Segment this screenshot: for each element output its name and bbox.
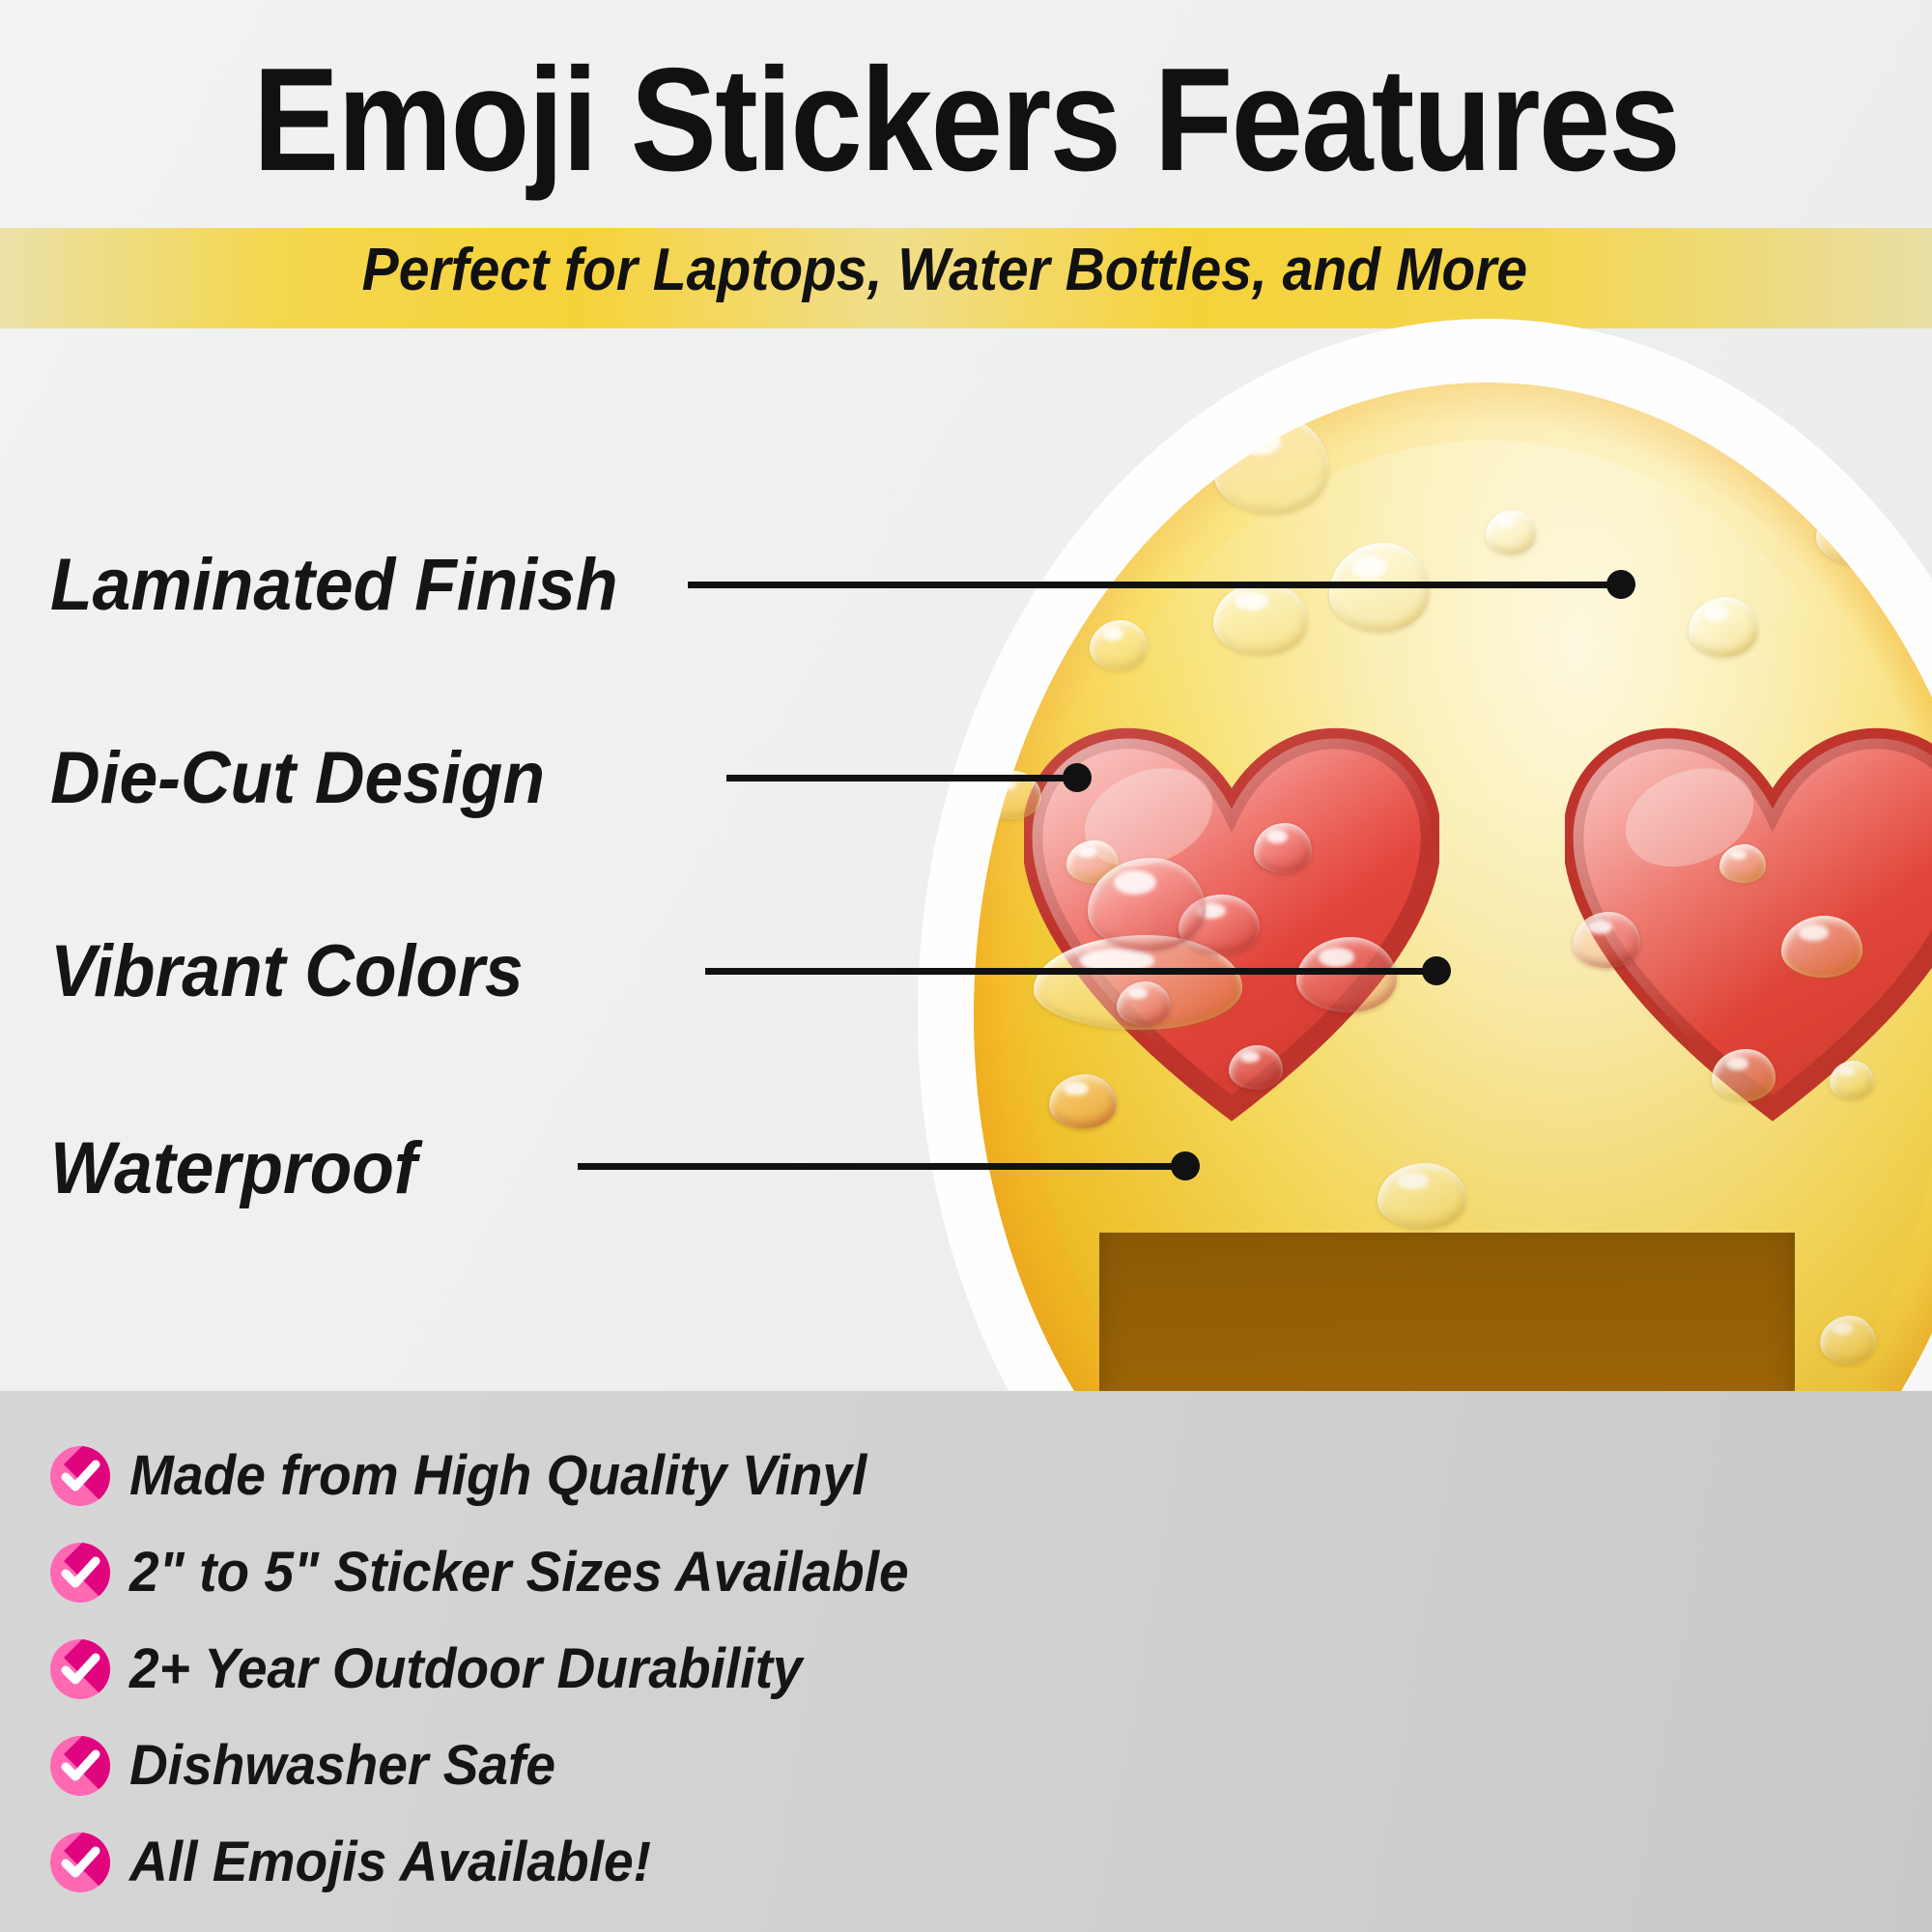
feature-label-vibrant-colors: Vibrant Colors bbox=[50, 935, 524, 1009]
checklist-item: All Emojis Available! bbox=[50, 1814, 1161, 1911]
leader-line-laminated-finish bbox=[688, 582, 1621, 588]
check-circle-icon bbox=[50, 1543, 110, 1603]
leader-dot-die-cut-design bbox=[1063, 763, 1092, 792]
checklist-item-label: 2" to 5" Sticker Sizes Available bbox=[129, 1545, 909, 1601]
leader-dot-vibrant-colors bbox=[1422, 956, 1451, 985]
leader-line-die-cut-design bbox=[726, 775, 1078, 781]
leader-dot-waterproof bbox=[1171, 1151, 1200, 1180]
checklist-item-label: 2+ Year Outdoor Durability bbox=[129, 1641, 803, 1697]
check-circle-icon bbox=[50, 1833, 110, 1892]
checklist-item-label: Made from High Quality Vinyl bbox=[129, 1448, 867, 1504]
check-circle-icon bbox=[50, 1639, 110, 1699]
checklist-item: 2" to 5" Sticker Sizes Available bbox=[50, 1524, 1161, 1621]
infographic-page: Emoji Stickers Features Perfect for Lapt… bbox=[0, 0, 1932, 1932]
leader-dot-laminated-finish bbox=[1606, 570, 1635, 599]
leader-line-waterproof bbox=[578, 1163, 1186, 1170]
check-circle-icon bbox=[50, 1446, 110, 1506]
check-circle-icon bbox=[50, 1736, 110, 1796]
feature-label-waterproof: Waterproof bbox=[50, 1132, 417, 1206]
page-title: Emoji Stickers Features bbox=[116, 46, 1816, 193]
benefits-checklist: Made from High Quality Vinyl 2" to 5" St… bbox=[50, 1428, 1161, 1911]
feature-label-laminated-finish: Laminated Finish bbox=[50, 549, 617, 622]
checklist-item-label: Dishwasher Safe bbox=[129, 1738, 555, 1794]
checklist-item: 2+ Year Outdoor Durability bbox=[50, 1621, 1161, 1718]
checklist-item: Made from High Quality Vinyl bbox=[50, 1428, 1161, 1524]
checklist-item-label: All Emojis Available! bbox=[129, 1834, 651, 1890]
page-subtitle: Perfect for Laptops, Water Bottles, and … bbox=[77, 241, 1855, 300]
leader-line-vibrant-colors bbox=[705, 968, 1437, 975]
water-droplet bbox=[1018, 545, 1061, 582]
checklist-item: Dishwasher Safe bbox=[50, 1718, 1161, 1814]
feature-label-die-cut-design: Die-Cut Design bbox=[50, 742, 545, 815]
